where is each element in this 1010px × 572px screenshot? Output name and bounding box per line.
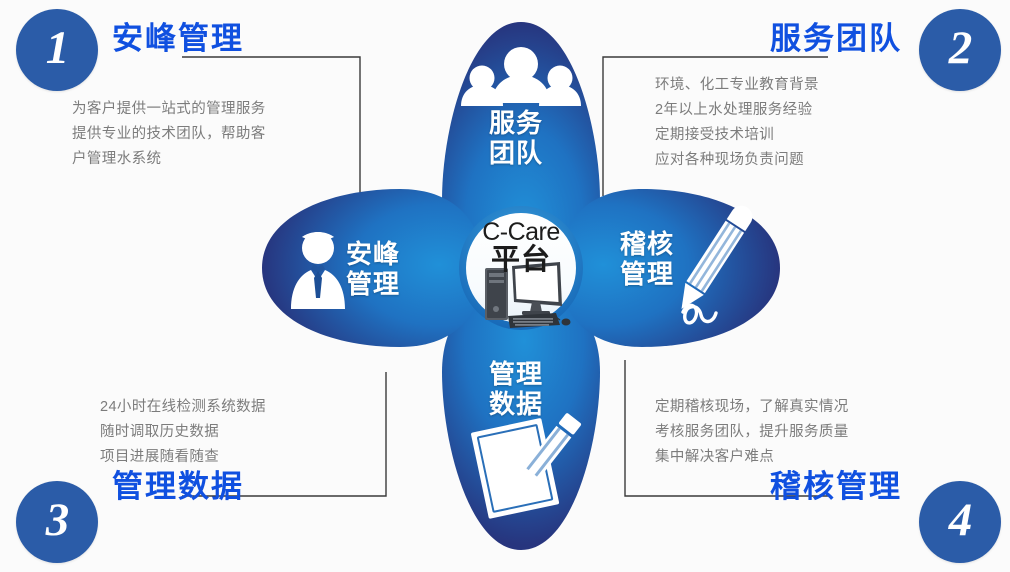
number-badge-1: 1 xyxy=(16,9,98,91)
petal-bottom-line2: 数据 xyxy=(489,389,543,419)
petal-top-line2: 团队 xyxy=(489,138,543,168)
badge-2-number: 2 xyxy=(949,25,972,72)
body-line: 2年以上水处理服务经验 xyxy=(655,98,819,123)
petal-label-right: 稽核 管理 xyxy=(620,229,674,289)
body-line: 户管理水系统 xyxy=(72,147,266,172)
section-heading-4: 稽核管理 xyxy=(770,471,902,502)
hub-circle[interactable] xyxy=(459,206,583,330)
petal-top-line1: 服务 xyxy=(489,108,543,138)
number-badge-2: 2 xyxy=(919,9,1001,91)
petal-right-line1: 稽核 xyxy=(620,229,674,259)
section-body-3: 24小时在线检测系统数据随时调取历史数据项目进展随看随查 xyxy=(100,395,266,470)
section-heading-2: 服务团队 xyxy=(770,23,902,54)
body-line: 随时调取历史数据 xyxy=(100,420,266,445)
petal-right-line2: 管理 xyxy=(620,259,674,289)
body-line: 为客户提供一站式的管理服务 xyxy=(72,97,266,122)
petal-left-line2: 管理 xyxy=(346,269,400,299)
body-line: 项目进展随看随查 xyxy=(100,445,266,470)
petal-left-line1: 安峰 xyxy=(346,239,400,269)
badge-1-number: 1 xyxy=(46,25,69,72)
section-body-4: 定期稽核现场，了解真实情况考核服务团队，提升服务质量集中解决客户难点 xyxy=(655,395,849,470)
section-heading-1: 安峰管理 xyxy=(112,23,244,54)
desktop-computer-icon xyxy=(485,262,571,328)
badge-3-number: 3 xyxy=(46,497,69,544)
number-badge-4: 4 xyxy=(919,481,1001,563)
petal-label-bottom: 管理 数据 xyxy=(489,359,543,419)
body-line: 定期稽核现场，了解真实情况 xyxy=(655,395,849,420)
section-heading-3: 管理数据 xyxy=(112,471,244,502)
petal-label-left: 安峰 管理 xyxy=(346,239,400,299)
infographic-canvas: 服务 团队 安峰 管理 稽核 管理 管理 数据 C-Care 平台 1 2 3 … xyxy=(0,0,1010,572)
body-line: 考核服务团队，提升服务质量 xyxy=(655,420,849,445)
body-line: 定期接受技术培训 xyxy=(655,123,819,148)
petal-bottom-line1: 管理 xyxy=(489,359,543,389)
body-line: 24小时在线检测系统数据 xyxy=(100,395,266,420)
body-line: 应对各种现场负责问题 xyxy=(655,148,819,173)
badge-4-number: 4 xyxy=(949,497,972,544)
section-body-2: 环境、化工专业教育背景2年以上水处理服务经验定期接受技术培训应对各种现场负责问题 xyxy=(655,73,819,173)
body-line: 集中解决客户难点 xyxy=(655,445,849,470)
body-line: 环境、化工专业教育背景 xyxy=(655,73,819,98)
petal-label-top: 服务 团队 xyxy=(489,108,543,168)
body-line: 提供专业的技术团队，帮助客 xyxy=(72,122,266,147)
section-body-1: 为客户提供一站式的管理服务提供专业的技术团队，帮助客户管理水系统 xyxy=(72,97,266,172)
number-badge-3: 3 xyxy=(16,481,98,563)
